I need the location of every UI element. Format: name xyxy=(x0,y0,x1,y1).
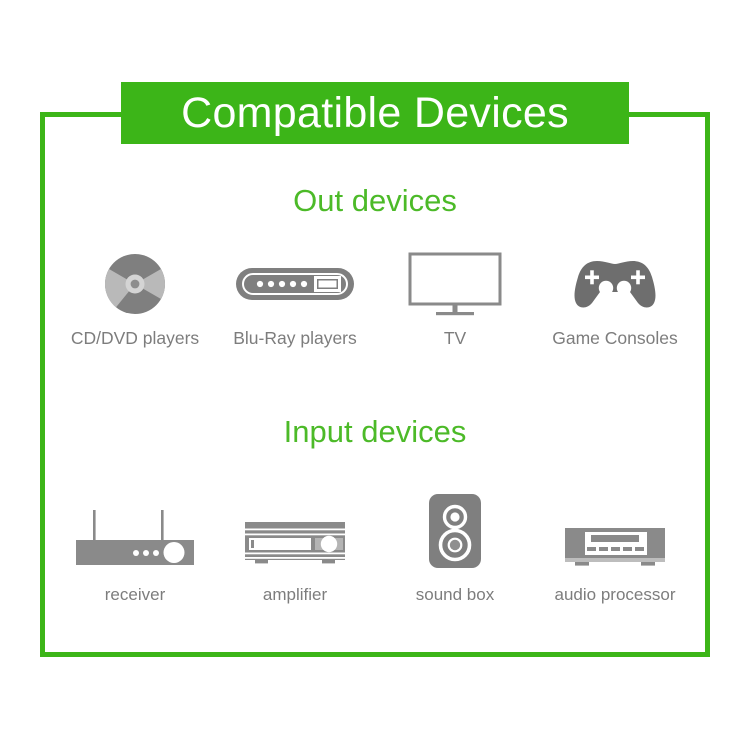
device-item-amplifier: amplifier xyxy=(215,484,375,603)
device-item-bluray-players: Blu-Ray players xyxy=(215,248,375,348)
compact-disc-icon xyxy=(103,248,167,320)
amplifier-icon xyxy=(243,484,347,570)
game-controller-icon xyxy=(567,248,663,320)
speaker-box-icon xyxy=(427,484,483,570)
page-title: Compatible Devices xyxy=(181,92,569,135)
title-banner: Compatible Devices xyxy=(121,82,629,144)
device-label: CD/DVD players xyxy=(71,330,199,348)
tv-monitor-icon xyxy=(408,248,502,320)
device-label: Blu-Ray players xyxy=(233,330,357,348)
device-label: Game Consoles xyxy=(552,330,677,348)
infographic-page: Compatible Devices Out devices CD/DVD pl… xyxy=(0,0,750,750)
section-heading-input-devices: Input devices xyxy=(0,416,750,447)
device-item-game-consoles: Game Consoles xyxy=(535,248,695,348)
device-item-audio-processor: audio processor xyxy=(535,484,695,603)
audio-processor-icon xyxy=(563,484,667,570)
device-label: sound box xyxy=(416,586,494,603)
av-receiver-icon xyxy=(73,484,197,570)
device-item-sound-box: sound box xyxy=(375,484,535,603)
section-heading-out-devices: Out devices xyxy=(0,185,750,216)
out-devices-row: CD/DVD players Blu-Ray players xyxy=(55,248,695,348)
bluray-player-icon xyxy=(235,248,355,320)
device-label: receiver xyxy=(105,586,165,603)
device-label: audio processor xyxy=(555,586,676,603)
device-item-cd-dvd-players: CD/DVD players xyxy=(55,248,215,348)
device-label: amplifier xyxy=(263,586,327,603)
device-label: TV xyxy=(444,330,466,348)
device-item-tv: TV xyxy=(375,248,535,348)
device-item-receiver: receiver xyxy=(55,484,215,603)
input-devices-row: receiver amplifier xyxy=(55,484,695,603)
